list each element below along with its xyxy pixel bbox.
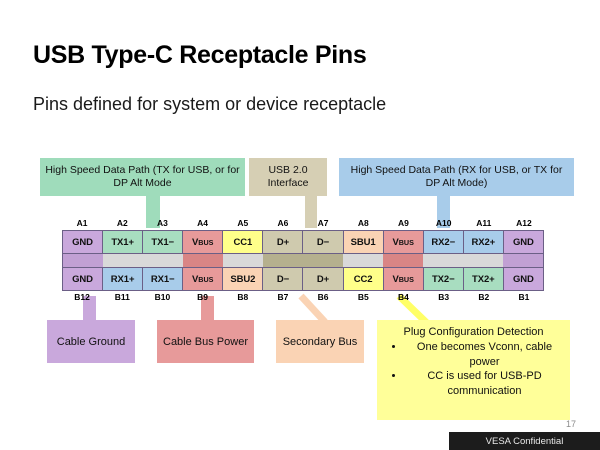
pin-cell-b-11: TX2+	[464, 268, 504, 290]
pin-label-b2: B2	[464, 291, 504, 304]
pin-label-a3: A3	[142, 217, 182, 230]
pin-grid: GNDTX1+TX1−VBUSCC1D+D−SBU1VBUSRX2−RX2+GN…	[62, 230, 544, 291]
pin-labels-row-a: A1A2A3A4A5A6A7A8A9A10A11A12	[62, 217, 544, 230]
pin-cell-a-5: CC1	[223, 231, 263, 253]
pin-label-a4: A4	[183, 217, 223, 230]
pin-label-a1: A1	[62, 217, 102, 230]
pin-cell-b-9: VBUS	[384, 268, 424, 290]
pin-cell-b-6: D−	[263, 268, 303, 290]
banner-usb2-interface: USB 2.0 Interface	[249, 158, 327, 196]
pin-cell-a-8: SBU1	[344, 231, 384, 253]
banner-high-speed-rx: High Speed Data Path (RX for USB, or TX …	[339, 158, 574, 196]
pin-cell-b-12: GND	[504, 268, 543, 290]
pin-band-segment-6	[343, 254, 383, 267]
page-title: USB Type-C Receptacle Pins	[33, 41, 367, 70]
pin-label-b1: B1	[504, 291, 544, 304]
banner-high-speed-tx: High Speed Data Path (TX for USB, or for…	[40, 158, 245, 196]
pin-middle-band	[63, 253, 543, 268]
pin-label-b11: B11	[102, 291, 142, 304]
pin-label-a8: A8	[343, 217, 383, 230]
pin-row-b: GNDRX1+RX1−VBUSSBU2D−D+CC2VBUSTX2−TX2+GN…	[63, 268, 543, 290]
pin-cell-b-7: D+	[303, 268, 343, 290]
pin-label-b10: B10	[142, 291, 182, 304]
pin-cell-b-2: RX1+	[103, 268, 143, 290]
pin-label-b12: B12	[62, 291, 102, 304]
callout-secondary-bus: Secondary Bus	[276, 320, 364, 363]
pin-cell-a-1: GND	[63, 231, 103, 253]
pin-cell-b-1: GND	[63, 268, 103, 290]
footer-confidential-bar: VESA Confidential	[449, 432, 600, 450]
page-subtitle: Pins defined for system or device recept…	[33, 94, 386, 115]
pin-cell-a-9: VBUS	[384, 231, 424, 253]
pin-label-b8: B8	[223, 291, 263, 304]
plug-config-bullet-2: CC is used for USB-PD communication	[405, 369, 564, 398]
pin-cell-b-4: VBUS	[183, 268, 223, 290]
pin-band-segment-3	[183, 254, 223, 267]
plug-config-title: Plug Configuration Detection	[383, 325, 564, 339]
pin-cell-a-11: RX2+	[464, 231, 504, 253]
pin-label-b7: B7	[263, 291, 303, 304]
pin-cell-b-5: SBU2	[223, 268, 263, 290]
pin-label-a12: A12	[504, 217, 544, 230]
pin-label-a9: A9	[383, 217, 423, 230]
plug-config-bullet-1: One becomes Vconn, cable power	[405, 340, 564, 369]
pin-cell-a-2: TX1+	[103, 231, 143, 253]
pin-label-a6: A6	[263, 217, 303, 230]
pin-cell-a-4: VBUS	[183, 231, 223, 253]
pin-band-segment-8	[423, 254, 503, 267]
pin-cell-b-3: RX1−	[143, 268, 183, 290]
pin-cell-a-3: TX1−	[143, 231, 183, 253]
plug-config-bullets: One becomes Vconn, cable powerCC is used…	[383, 340, 564, 398]
pin-band-segment-7	[383, 254, 423, 267]
pin-cell-b-10: TX2−	[424, 268, 464, 290]
pin-label-a11: A11	[464, 217, 504, 230]
pin-label-b4: B4	[383, 291, 423, 304]
pin-band-segment-9	[503, 254, 543, 267]
pin-cell-a-7: D−	[303, 231, 343, 253]
pin-band-segment-5	[263, 254, 343, 267]
callout-plug-configuration: Plug Configuration Detection One becomes…	[377, 320, 570, 420]
pin-band-segment-4	[223, 254, 263, 267]
callout-cable-bus-power: Cable Bus Power	[157, 320, 254, 363]
pin-label-b3: B3	[424, 291, 464, 304]
callout-cable-ground: Cable Ground	[47, 320, 135, 363]
pin-band-segment-1	[63, 254, 103, 267]
pin-label-b6: B6	[303, 291, 343, 304]
page-number: 17	[566, 419, 576, 429]
pin-row-a: GNDTX1+TX1−VBUSCC1D+D−SBU1VBUSRX2−RX2+GN…	[63, 231, 543, 253]
pin-label-a2: A2	[102, 217, 142, 230]
pin-label-b5: B5	[343, 291, 383, 304]
pin-cell-a-12: GND	[504, 231, 543, 253]
pin-labels-row-b: B12B11B10B9B8B7B6B5B4B3B2B1	[62, 291, 544, 304]
pin-cell-b-8: CC2	[344, 268, 384, 290]
pin-label-a5: A5	[223, 217, 263, 230]
pin-label-a7: A7	[303, 217, 343, 230]
pin-cell-a-10: RX2−	[424, 231, 464, 253]
pin-band-segment-2	[103, 254, 183, 267]
pin-table: A1A2A3A4A5A6A7A8A9A10A11A12 GNDTX1+TX1−V…	[62, 217, 544, 304]
slide-canvas: USB Type-C Receptacle Pins Pins defined …	[0, 0, 600, 450]
pin-label-b9: B9	[183, 291, 223, 304]
pin-label-a10: A10	[424, 217, 464, 230]
pin-cell-a-6: D+	[263, 231, 303, 253]
